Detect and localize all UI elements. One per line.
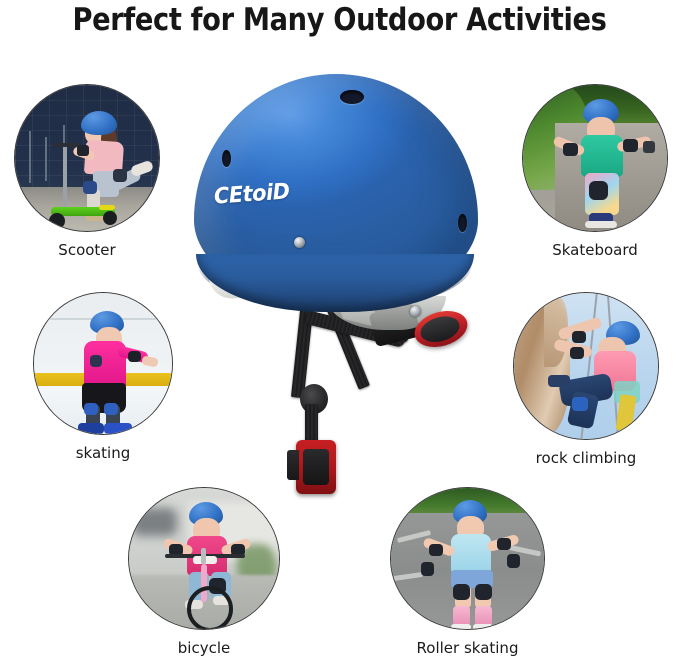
page-title: Perfect for Many Outdoor Activities (41, 2, 639, 38)
brand-logo: CEtoiD (213, 179, 290, 209)
activity-scooter: Scooter (14, 84, 160, 264)
helmet-chin-buckle (296, 440, 336, 494)
helmet-vent-rear (458, 214, 467, 232)
activity-skateboard: Skateboard (522, 84, 668, 264)
helmet-vent-front (222, 150, 231, 167)
helmet-buckle-inner (303, 449, 329, 485)
activity-scooter-image (14, 84, 160, 232)
activity-scooter-label: Scooter (58, 241, 115, 259)
activity-skating-image (33, 292, 173, 435)
activity-bicycle-label: bicycle (178, 639, 230, 656)
activity-skating: skating (33, 292, 173, 472)
helmet-buckle-wing (287, 450, 299, 480)
helmet-product-image: CEtoiD (186, 66, 486, 516)
activity-skateboard-image (522, 84, 668, 232)
helmet-rivet-front (294, 237, 305, 248)
activity-roller-skating-label: Roller skating (417, 639, 519, 656)
activity-rock-climbing: rock climbing (513, 292, 659, 472)
activity-rock-climbing-image (513, 292, 659, 440)
infographic-page: Perfect for Many Outdoor Activities (0, 0, 679, 656)
activity-rock-climbing-label: rock climbing (536, 449, 637, 467)
helmet-vent-top (340, 90, 364, 104)
helmet-rivet-rear (410, 306, 421, 317)
helmet-dial-core (418, 312, 463, 346)
activity-skating-label: skating (76, 444, 131, 462)
activity-skateboard-label: Skateboard (552, 241, 638, 259)
